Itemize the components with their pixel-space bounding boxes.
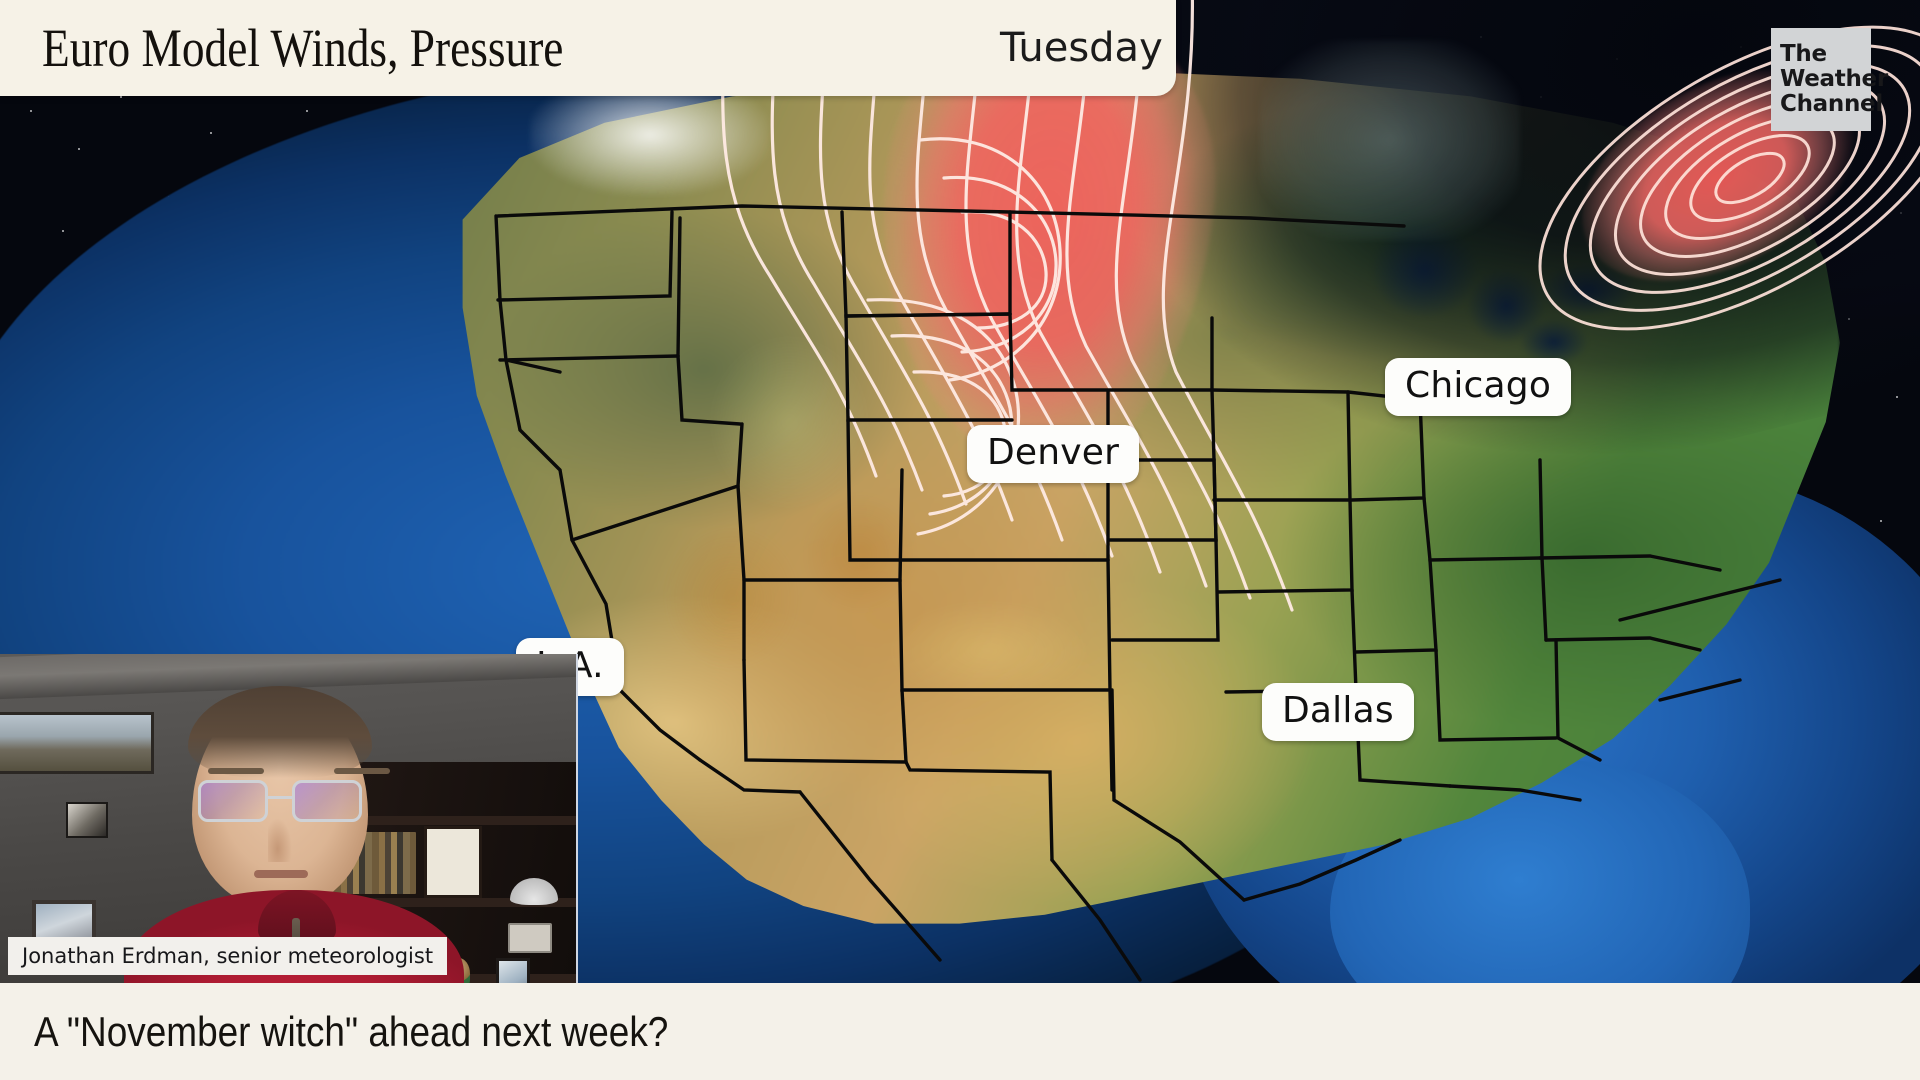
presenter-nose — [268, 818, 292, 862]
wall-photo-small — [66, 802, 108, 838]
title-bar: Euro Model Winds, Pressure Tuesday — [0, 0, 1176, 96]
presenter-mouth — [254, 870, 308, 878]
day-label: Tuesday — [1000, 25, 1163, 71]
presenter-name-strap: Jonathan Erdman, senior meteorologist — [8, 937, 447, 975]
wall-outlet — [508, 923, 552, 953]
broadcast-screen: Chicago Denver Dallas L.A. Euro Model Wi… — [0, 0, 1920, 1080]
logo-line-2: Weather — [1780, 67, 1862, 92]
city-label-dallas[interactable]: Dallas — [1262, 683, 1414, 741]
presenter-hair — [188, 686, 372, 778]
wall-art-panorama — [0, 712, 154, 774]
caption-bar: A "November witch" ahead next week? — [0, 983, 1920, 1080]
caption-headline: A "November witch" ahead next week? — [34, 1008, 668, 1056]
logo-line-3: Channel — [1780, 92, 1862, 117]
the-weather-channel-logo: The Weather Channel — [1771, 28, 1871, 131]
logo-line-1: The — [1780, 42, 1862, 67]
shelf-picture-frame — [496, 958, 530, 983]
baseball-cap — [510, 878, 558, 905]
page-title: Euro Model Winds, Pressure — [42, 17, 563, 79]
city-label-chicago[interactable]: Chicago — [1385, 358, 1571, 416]
presenter-video[interactable]: Jonathan Erdman, senior meteorologist — [0, 654, 578, 983]
city-label-denver[interactable]: Denver — [967, 425, 1139, 483]
